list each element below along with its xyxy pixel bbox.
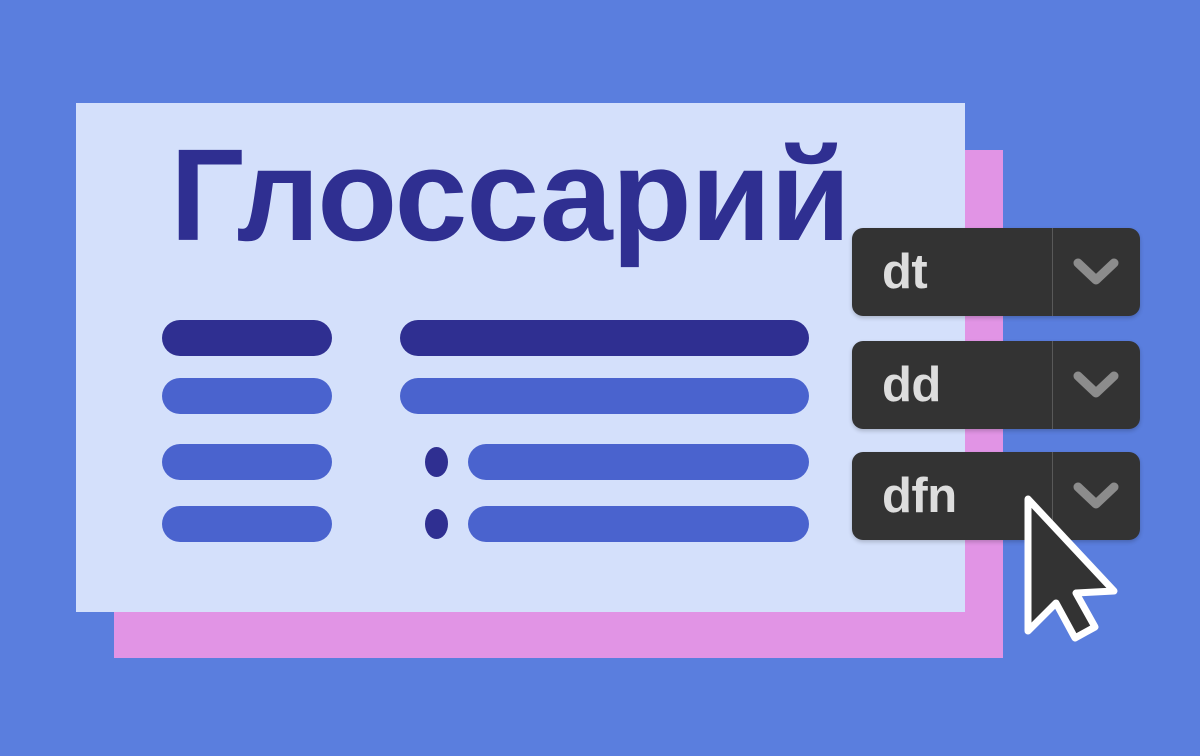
tag-dropdown-dfn-label: dfn xyxy=(882,452,957,540)
bullet-icon xyxy=(425,447,448,477)
glossary-document-card: Глоссарий xyxy=(76,103,965,612)
term-bar xyxy=(162,320,332,356)
definition-bar xyxy=(400,378,809,414)
tag-dropdown-dt[interactable]: dt xyxy=(852,228,1140,316)
tag-dropdown-dd-label: dd xyxy=(882,341,941,429)
definition-row xyxy=(76,320,965,356)
chevron-down-icon[interactable] xyxy=(1052,341,1140,429)
definition-bar xyxy=(400,320,809,356)
definition-list xyxy=(76,103,965,612)
tag-dropdown-dd[interactable]: dd xyxy=(852,341,1140,429)
bullet-icon xyxy=(425,509,448,539)
chevron-down-icon[interactable] xyxy=(1052,228,1140,316)
definition-bar xyxy=(468,444,809,480)
term-bar xyxy=(162,444,332,480)
term-bar xyxy=(162,378,332,414)
definition-row xyxy=(76,378,965,414)
illustration-canvas: Глоссарий xyxy=(0,0,1200,756)
definition-bar xyxy=(468,506,809,542)
definition-row xyxy=(76,444,965,480)
tag-dropdown-dfn[interactable]: dfn xyxy=(852,452,1140,540)
definition-row xyxy=(76,506,965,542)
chevron-down-icon[interactable] xyxy=(1052,452,1140,540)
term-bar xyxy=(162,506,332,542)
tag-dropdown-dt-label: dt xyxy=(882,228,927,316)
